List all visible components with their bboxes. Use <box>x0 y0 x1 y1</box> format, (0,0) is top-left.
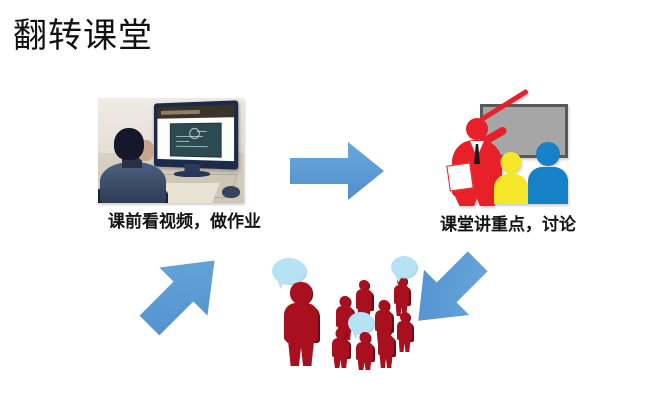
slide-canvas: 翻转课堂 课前看视频，做作业 <box>0 0 672 408</box>
illustration-classroom <box>438 100 572 204</box>
monitor-base <box>174 171 210 177</box>
illustration-student-at-computer <box>98 98 244 203</box>
student-head-yellow <box>501 152 522 173</box>
person-figure <box>397 312 412 352</box>
illustration-discussion-group <box>266 256 414 368</box>
student-head <box>114 128 144 160</box>
monitor-icon <box>154 100 238 169</box>
person-figure-main <box>284 282 318 366</box>
caption-pre-class: 课前看视频，做作业 <box>108 210 261 234</box>
teacher-notes <box>446 162 473 191</box>
student-body-yellow <box>494 174 528 204</box>
student-figure-blue <box>528 142 568 204</box>
mouse-icon <box>222 186 240 198</box>
speech-bubble-icon <box>348 312 374 334</box>
person-figure <box>356 332 373 370</box>
video-diagram-circle <box>189 128 200 139</box>
arrow-up-left-icon <box>128 243 236 343</box>
student-head-blue <box>536 142 560 166</box>
student-body <box>100 162 166 203</box>
page-title: 翻转课堂 <box>13 14 153 58</box>
caption-in-class: 课堂讲重点，讨论 <box>440 213 576 237</box>
person-figure <box>378 326 394 368</box>
person-figure <box>332 328 349 368</box>
speech-bubble-icon <box>391 256 417 278</box>
student-body-blue <box>528 167 568 204</box>
person-figure <box>394 276 409 316</box>
teacher-head <box>466 118 488 140</box>
browser-toolbar <box>157 105 234 119</box>
lecture-video-frame <box>170 123 222 158</box>
speech-bubble-icon <box>272 258 306 284</box>
monitor-screen <box>157 105 234 162</box>
arrow-down-left-icon <box>400 243 496 339</box>
arrow-right-icon <box>290 140 386 202</box>
student-figure-yellow <box>494 152 528 204</box>
